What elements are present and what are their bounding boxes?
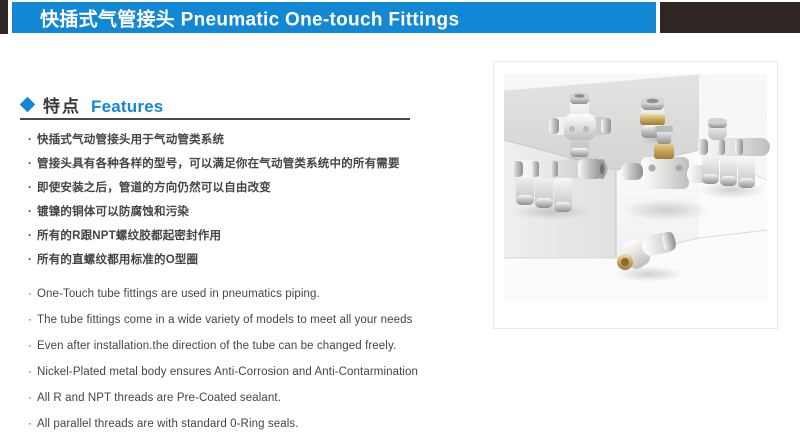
features-heading: 特点 Features [22, 92, 163, 117]
list-item: · 所有的R跟NPT螺纹胶都起密封作用 [28, 224, 468, 248]
bullet-marker: · [28, 248, 37, 272]
list-item-text: Nickel-Plated metal body ensures Anti-Co… [37, 359, 418, 385]
product-photo [493, 61, 778, 329]
list-item: · All R and NPT threads are Pre-Coated s… [28, 385, 468, 411]
features-title-cn: 特点 [43, 92, 81, 117]
features-content: · 快插式气动管接头用于气动管类系统 · 管接头具有各种各样的型号，可以满足你在… [28, 128, 468, 437]
bullet-marker: · [28, 333, 37, 359]
list-item-text: 所有的R跟NPT螺纹胶都起密封作用 [37, 224, 221, 248]
list-item-text: 所有的直螺纹都用标准的O型圈 [37, 248, 198, 272]
header-title-bar: 快插式气管接头 Pneumatic One-touch Fittings [12, 2, 656, 33]
list-item: · 快插式气动管接头用于气动管类系统 [28, 128, 468, 152]
list-item-text: 管接头具有各种各样的型号，可以满足你在气动管类系统中的所有需要 [37, 152, 400, 176]
list-item-text: One-Touch tube fittings are used in pneu… [37, 281, 320, 307]
features-list-english: · One-Touch tube fittings are used in pn… [28, 281, 468, 437]
page-title: 快插式气管接头 Pneumatic One-touch Fittings [40, 4, 459, 31]
section-divider [20, 118, 410, 120]
list-item-text: Even after installation.the direction of… [37, 333, 396, 359]
bullet-marker: · [28, 307, 37, 333]
list-item-text: 镀镍的铜体可以防腐蚀和污染 [37, 200, 189, 224]
product-photo-scene [494, 62, 777, 328]
list-item-text: All R and NPT threads are Pre-Coated sea… [37, 385, 281, 411]
features-list-chinese: · 快插式气动管接头用于气动管类系统 · 管接头具有各种各样的型号，可以满足你在… [28, 128, 468, 272]
diamond-icon [20, 97, 36, 113]
list-item: · The tube fittings come in a wide varie… [28, 307, 468, 333]
bullet-marker: · [28, 385, 37, 411]
bullet-marker: · [28, 200, 37, 224]
list-item: · Even after installation.the direction … [28, 333, 468, 359]
list-item: · Nickel-Plated metal body ensures Anti-… [28, 359, 468, 385]
list-item-text: 即使安装之后，管道的方向仍然可以自由改变 [37, 176, 271, 200]
bullet-marker: · [28, 281, 37, 307]
list-item-text: 快插式气动管接头用于气动管类系统 [37, 128, 224, 152]
list-item-text: The tube fittings come in a wide variety… [37, 307, 413, 333]
bullet-marker: · [28, 224, 37, 248]
page-header: 快插式气管接头 Pneumatic One-touch Fittings [0, 0, 800, 34]
product-photo-illustration [494, 62, 777, 328]
list-item: · One-Touch tube fittings are used in pn… [28, 281, 468, 307]
list-item: · 镀镍的铜体可以防腐蚀和污染 [28, 200, 468, 224]
list-item: · 所有的直螺纹都用标准的O型圈 [28, 248, 468, 272]
list-item-text: All parallel threads are with standard 0… [37, 411, 299, 437]
list-item: · All parallel threads are with standard… [28, 411, 468, 437]
bullet-marker: · [28, 359, 37, 385]
list-item: · 管接头具有各种各样的型号，可以满足你在气动管类系统中的所有需要 [28, 152, 468, 176]
bullet-marker: · [28, 152, 37, 176]
bullet-marker: · [28, 176, 37, 200]
list-item: · 即使安装之后，管道的方向仍然可以自由改变 [28, 176, 468, 200]
header-left-cap [0, 0, 8, 34]
bullet-marker: · [28, 411, 37, 437]
bullet-marker: · [28, 128, 37, 152]
header-right-cap [660, 2, 800, 33]
features-title-en: Features [91, 97, 163, 117]
